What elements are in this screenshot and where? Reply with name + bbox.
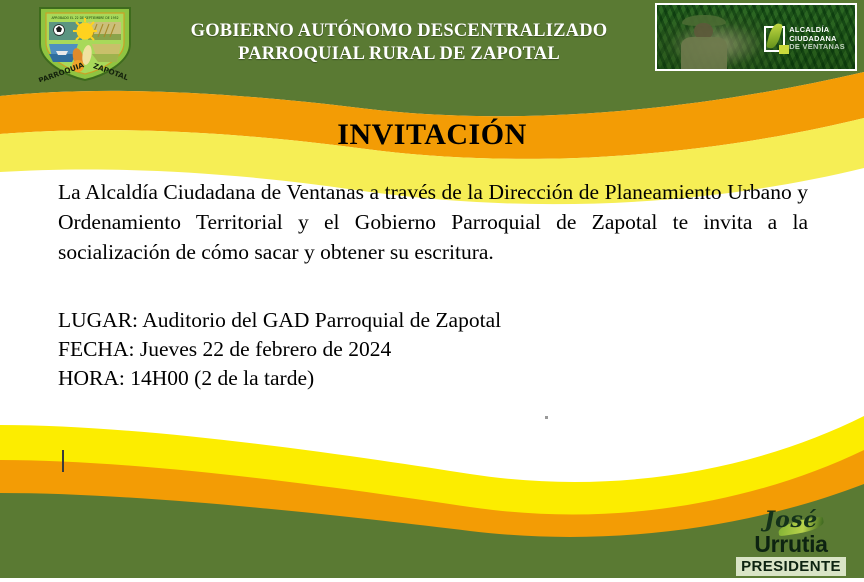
torso-shape	[681, 37, 727, 71]
detail-label-lugar: LUGAR:	[58, 308, 138, 332]
detail-value-fecha: Jueves 22 de febrero de 2024	[140, 337, 391, 361]
event-details: LUGAR: Auditorio del GAD Parroquial de Z…	[0, 306, 864, 393]
detail-row-lugar: LUGAR: Auditorio del GAD Parroquial de Z…	[58, 306, 864, 335]
farmer-figure	[681, 15, 727, 71]
text-cursor-caret[interactable]	[62, 450, 64, 472]
invitation-paragraph: La Alcaldía Ciudadana de Ventanas a trav…	[0, 177, 864, 267]
president-signature: José Urrutia PRESIDENTE	[732, 510, 850, 576]
bottom-edge-strip	[0, 578, 864, 582]
detail-label-hora: HORA:	[58, 366, 125, 390]
organization-title-line1: GOBIERNO AUTÓNOMO DESCENTRALIZADO	[152, 20, 646, 43]
invitation-slide: APROBADO EL 22 DE SEPTIEMBRE DE 1952	[0, 0, 864, 582]
organization-title: GOBIERNO AUTÓNOMO DESCENTRALIZADO PARROQ…	[152, 20, 646, 66]
stray-period-mark	[545, 416, 548, 419]
alcaldia-logo: ALCALDÍA CIUDADANA DE VENTANAS	[764, 22, 845, 56]
logo-accent-square	[779, 45, 789, 54]
crest-icon: APROBADO EL 22 DE SEPTIEMBRE DE 1952	[26, 4, 144, 82]
alcaldia-logo-text: ALCALDÍA CIUDADANA DE VENTANAS	[789, 26, 845, 51]
page-title: INVITACIÓN	[0, 118, 864, 152]
slide-content: INVITACIÓN La Alcaldía Ciudadana de Vent…	[0, 76, 864, 393]
signature-script-name: José	[764, 510, 817, 530]
detail-row-fecha: FECHA: Jueves 22 de febrero de 2024	[58, 335, 864, 364]
parish-crest: APROBADO EL 22 DE SEPTIEMBRE DE 1952	[26, 4, 144, 82]
organization-title-line2: PARROQUIAL RURAL DE ZAPOTAL	[152, 43, 646, 66]
signature-first-name: José	[764, 507, 817, 533]
signature-role-badge: PRESIDENTE	[736, 557, 846, 576]
signature-last-name: Urrutia	[732, 532, 850, 556]
alcaldia-logo-line3: DE VENTANAS	[789, 43, 845, 51]
detail-value-hora: 14H00 (2 de la tarde)	[130, 366, 314, 390]
slide-header: APROBADO EL 22 DE SEPTIEMBRE DE 1952	[0, 0, 864, 76]
detail-value-lugar: Auditorio del GAD Parroquial de Zapotal	[142, 308, 501, 332]
municipality-banner: ALCALDÍA CIUDADANA DE VENTANAS	[655, 3, 857, 71]
corn-leaf-icon	[764, 26, 785, 52]
detail-label-fecha: FECHA:	[58, 337, 134, 361]
detail-row-hora: HORA: 14H00 (2 de la tarde)	[58, 364, 864, 393]
